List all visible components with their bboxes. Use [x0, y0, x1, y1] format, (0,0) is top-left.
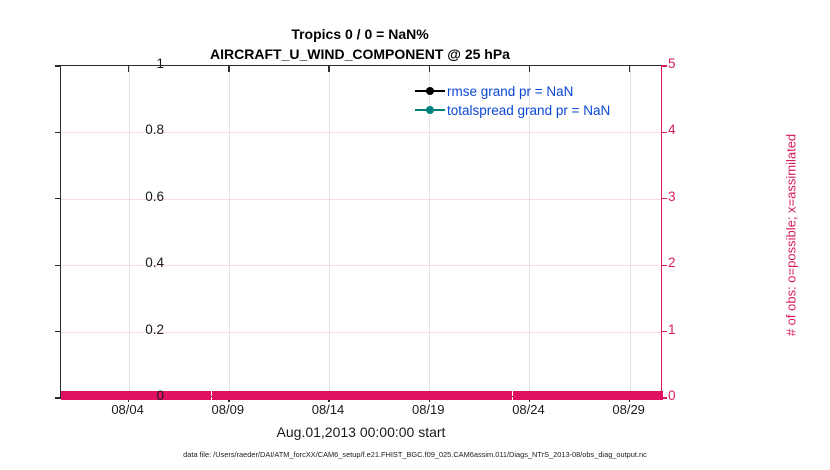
- obs-marker: [272, 391, 277, 400]
- legend-label-rmse: rmse grand pr = NaN: [447, 84, 573, 99]
- obs-marker: [553, 391, 558, 400]
- obs-marker: [487, 391, 492, 400]
- obs-marker: [222, 391, 227, 400]
- legend-marker-rmse-icon: [415, 84, 445, 98]
- obs-marker: [518, 391, 523, 400]
- plot-area: rmse grand pr = NaN totalspread grand pr…: [60, 65, 662, 397]
- obs-marker: [347, 391, 352, 400]
- obs-marker: [507, 391, 512, 400]
- obs-marker: [61, 391, 66, 400]
- obs-marker: [146, 391, 151, 400]
- obs-marker: [407, 391, 412, 400]
- x-tick-label: 08/19: [412, 402, 445, 417]
- obs-marker: [166, 391, 171, 400]
- y-tick-right: [661, 397, 667, 398]
- obs-marker: [362, 391, 367, 400]
- observation-marker-band: [61, 391, 661, 400]
- obs-marker: [66, 391, 71, 400]
- x-tick-top: [429, 66, 430, 72]
- y-tick-right: [661, 198, 667, 199]
- gridline-vertical: [229, 66, 230, 396]
- obs-marker: [442, 391, 447, 400]
- obs-marker: [176, 391, 181, 400]
- obs-marker: [101, 391, 106, 400]
- obs-marker: [312, 391, 317, 400]
- x-tick-label: 08/29: [612, 402, 645, 417]
- y-tick-left: [55, 65, 61, 66]
- x-tick-label: 08/09: [212, 402, 245, 417]
- obs-marker: [643, 391, 648, 400]
- obs-marker: [282, 391, 287, 400]
- obs-marker: [533, 391, 538, 400]
- y-tick-label-left: 1: [156, 56, 164, 71]
- obs-marker: [106, 391, 111, 400]
- obs-marker: [171, 391, 176, 400]
- obs-marker: [307, 391, 312, 400]
- obs-marker: [573, 391, 578, 400]
- obs-marker: [593, 391, 598, 400]
- title-line-2: AIRCRAFT_U_WIND_COMPONENT @ 25 hPa: [0, 44, 720, 64]
- obs-marker: [332, 391, 337, 400]
- y-tick-label-left: 0: [156, 388, 164, 403]
- obs-marker: [302, 391, 307, 400]
- obs-marker: [262, 391, 267, 400]
- obs-marker: [277, 391, 282, 400]
- x-tick-label: 08/14: [312, 402, 345, 417]
- y-tick-left: [55, 198, 61, 199]
- obs-marker: [402, 391, 407, 400]
- obs-marker: [633, 391, 638, 400]
- obs-marker: [217, 391, 222, 400]
- legend-marker-totalspread-icon: [415, 103, 445, 117]
- y-axis-right-title: # of obs: o=possible; x=assimilated: [784, 134, 799, 336]
- obs-marker: [71, 391, 76, 400]
- obs-marker: [563, 391, 568, 400]
- x-axis-title: Aug.01,2013 00:00:00 start: [0, 424, 722, 440]
- y-tick-label-right: 3: [668, 189, 676, 204]
- obs-marker: [377, 391, 382, 400]
- obs-marker: [578, 391, 583, 400]
- legend-label-totalspread: totalspread grand pr = NaN: [447, 103, 610, 118]
- obs-marker: [337, 391, 342, 400]
- obs-marker: [322, 391, 327, 400]
- obs-marker: [267, 391, 272, 400]
- obs-marker: [558, 391, 563, 400]
- obs-marker: [568, 391, 573, 400]
- y-tick-label-right: 4: [668, 122, 676, 137]
- obs-marker: [613, 391, 618, 400]
- y-tick-label-right: 2: [668, 255, 676, 270]
- obs-marker: [452, 391, 457, 400]
- obs-marker: [608, 391, 613, 400]
- obs-marker: [297, 391, 302, 400]
- y-tick-label-right: 0: [668, 388, 676, 403]
- obs-marker: [502, 391, 507, 400]
- obs-marker: [648, 391, 653, 400]
- x-tick-label: 08/04: [111, 402, 144, 417]
- obs-marker: [91, 391, 96, 400]
- y-tick-label-left: 0.6: [145, 189, 164, 204]
- obs-marker: [116, 391, 121, 400]
- obs-marker: [638, 391, 643, 400]
- obs-marker: [252, 391, 257, 400]
- data-file-footer: data file: /Users/raeder/DAI/ATM_forcXX/…: [0, 450, 830, 459]
- obs-marker: [317, 391, 322, 400]
- obs-marker: [76, 391, 81, 400]
- obs-marker: [467, 391, 472, 400]
- chart-title: Tropics 0 / 0 = NaN% AIRCRAFT_U_WIND_COM…: [0, 24, 720, 64]
- y-tick-label-left: 0.2: [145, 322, 164, 337]
- gridline-vertical: [329, 66, 330, 396]
- obs-marker: [212, 391, 217, 400]
- obs-marker: [457, 391, 462, 400]
- y-tick-label-right: 5: [668, 56, 676, 71]
- obs-marker: [287, 391, 292, 400]
- obs-marker: [397, 391, 402, 400]
- obs-marker: [186, 391, 191, 400]
- obs-marker: [292, 391, 297, 400]
- obs-marker: [462, 391, 467, 400]
- obs-marker: [237, 391, 242, 400]
- x-tick-label: 08/24: [512, 402, 545, 417]
- obs-marker: [201, 391, 206, 400]
- y-tick-label-left: 0.4: [145, 255, 164, 270]
- obs-marker: [472, 391, 477, 400]
- obs-marker: [96, 391, 101, 400]
- obs-marker: [141, 391, 146, 400]
- x-tick-top: [629, 66, 630, 72]
- obs-marker: [247, 391, 252, 400]
- obs-marker: [342, 391, 347, 400]
- y-tick-right: [661, 132, 667, 133]
- obs-marker: [196, 391, 201, 400]
- obs-marker: [437, 391, 442, 400]
- legend-item-rmse[interactable]: rmse grand pr = NaN: [415, 83, 610, 99]
- y-tick-left: [55, 331, 61, 332]
- obs-marker: [181, 391, 186, 400]
- obs-marker: [232, 391, 237, 400]
- obs-marker: [482, 391, 487, 400]
- gridline-vertical: [630, 66, 631, 396]
- obs-marker: [497, 391, 502, 400]
- y-tick-label-left: 0.8: [145, 122, 164, 137]
- obs-marker: [603, 391, 608, 400]
- obs-marker: [136, 391, 141, 400]
- obs-marker: [653, 391, 658, 400]
- obs-marker: [492, 391, 497, 400]
- obs-marker: [387, 391, 392, 400]
- obs-marker: [191, 391, 196, 400]
- obs-marker: [623, 391, 628, 400]
- x-tick-top: [228, 66, 229, 72]
- y-tick-left: [55, 132, 61, 133]
- obs-marker: [257, 391, 262, 400]
- y-tick-left: [55, 265, 61, 266]
- obs-marker: [432, 391, 437, 400]
- x-tick-top: [128, 66, 129, 72]
- obs-marker: [206, 391, 211, 400]
- obs-marker: [543, 391, 548, 400]
- obs-marker: [477, 391, 482, 400]
- obs-marker: [382, 391, 387, 400]
- obs-marker: [412, 391, 417, 400]
- obs-marker: [417, 391, 422, 400]
- obs-marker: [242, 391, 247, 400]
- obs-marker: [538, 391, 543, 400]
- x-tick-top: [328, 66, 329, 72]
- chart-canvas: Tropics 0 / 0 = NaN% AIRCRAFT_U_WIND_COM…: [0, 0, 830, 470]
- y-tick-right: [661, 331, 667, 332]
- obs-marker: [447, 391, 452, 400]
- x-tick-top: [529, 66, 530, 72]
- y-tick-label-right: 1: [668, 322, 676, 337]
- obs-marker: [583, 391, 588, 400]
- legend-item-totalspread[interactable]: totalspread grand pr = NaN: [415, 102, 610, 118]
- obs-marker: [86, 391, 91, 400]
- obs-marker: [598, 391, 603, 400]
- obs-marker: [523, 391, 528, 400]
- obs-marker: [81, 391, 86, 400]
- y-tick-left: [55, 397, 61, 398]
- obs-marker: [588, 391, 593, 400]
- obs-marker: [131, 391, 136, 400]
- title-line-1: Tropics 0 / 0 = NaN%: [0, 24, 720, 44]
- obs-marker: [422, 391, 427, 400]
- obs-marker: [372, 391, 377, 400]
- obs-marker: [352, 391, 357, 400]
- obs-marker: [513, 391, 518, 400]
- y-tick-right: [661, 65, 667, 66]
- y-tick-right: [661, 265, 667, 266]
- obs-marker: [111, 391, 116, 400]
- obs-marker: [367, 391, 372, 400]
- obs-marker: [618, 391, 623, 400]
- obs-marker: [357, 391, 362, 400]
- obs-marker: [392, 391, 397, 400]
- gridline-vertical: [129, 66, 130, 396]
- legend: rmse grand pr = NaN totalspread grand pr…: [415, 83, 610, 118]
- obs-marker: [121, 391, 126, 400]
- obs-marker: [548, 391, 553, 400]
